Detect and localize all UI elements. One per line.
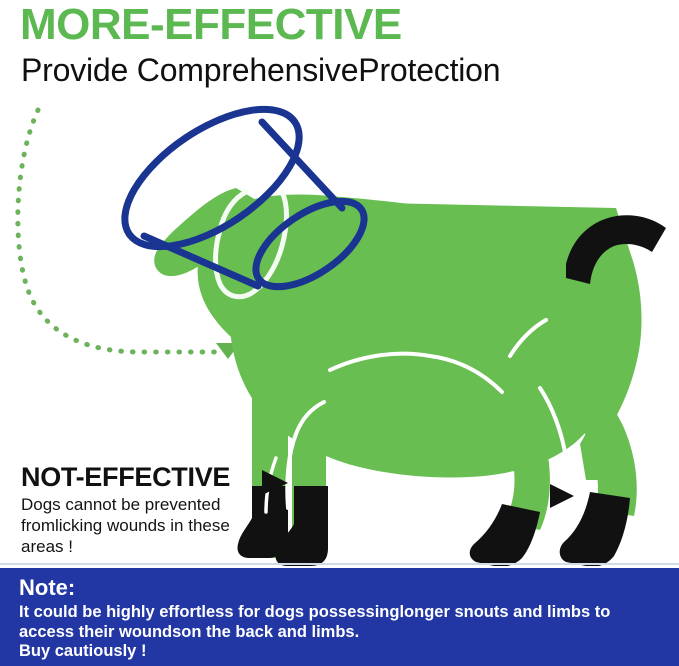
not-effective-body: Dogs cannot be prevented fromlicking wou… — [21, 494, 243, 557]
not-effective-title: NOT-EFFECTIVE — [21, 462, 230, 492]
paws — [238, 486, 631, 566]
note-cta: Buy cautiously ! — [19, 641, 146, 661]
divider — [0, 563, 679, 565]
page-title: MORE-EFFECTIVE — [20, 2, 402, 48]
infographic-poster: MORE-EFFECTIVE Provide ComprehensiveProt… — [0, 0, 679, 666]
note-body: It could be highly effortless for dogs p… — [19, 602, 667, 642]
page-subtitle: Provide ComprehensiveProtection — [21, 52, 500, 88]
note-title: Note: — [19, 576, 75, 600]
rear-paw-marker — [550, 484, 574, 508]
